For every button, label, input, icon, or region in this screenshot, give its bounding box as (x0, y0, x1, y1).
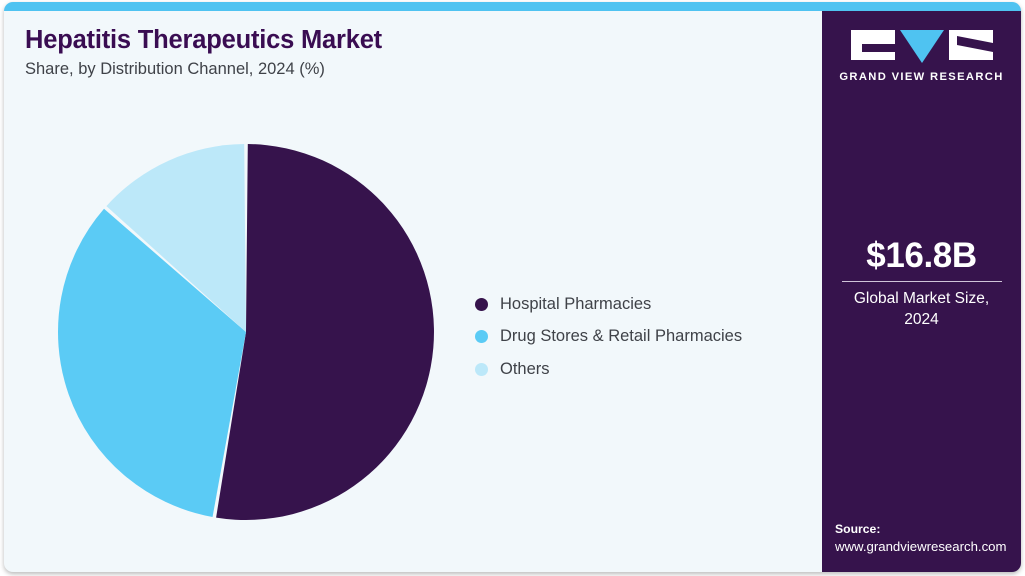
pie-slice[interactable] (216, 144, 434, 520)
kpi-divider (842, 281, 1002, 282)
kpi-caption: Global Market Size, 2024 (836, 289, 1007, 330)
branding-sidebar: GRAND VIEW RESEARCH $16.8B Global Market… (822, 11, 1021, 572)
logo-letter-v-triangle-icon (900, 30, 944, 63)
legend-swatch-icon (475, 298, 488, 311)
pie-slice-group (58, 144, 434, 520)
chart-legend: Hospital Pharmacies Drug Stores & Retail… (475, 288, 742, 386)
legend-item-drug-stores-retail-pharmacies[interactable]: Drug Stores & Retail Pharmacies (475, 321, 742, 354)
kpi-value: $16.8B (836, 236, 1007, 275)
legend-item-label: Drug Stores & Retail Pharmacies (500, 327, 742, 346)
legend-swatch-icon (475, 330, 488, 343)
logo-letter-g-icon (851, 30, 895, 60)
legend-item-others[interactable]: Others (475, 353, 742, 386)
legend-item-label: Others (500, 360, 550, 379)
legend-item-hospital-pharmacies[interactable]: Hospital Pharmacies (475, 288, 742, 321)
legend-item-label: Hospital Pharmacies (500, 295, 651, 314)
infographic-card: Hepatitis Therapeutics Market Share, by … (4, 2, 1021, 572)
source-label: Source: (835, 521, 1021, 538)
source-note: Source: www.grandviewresearch.com (835, 521, 1021, 556)
legend-swatch-icon (475, 363, 488, 376)
top-accent-strip (4, 2, 1021, 11)
kpi-market-size: $16.8B Global Market Size, 2024 (836, 236, 1007, 330)
logo: GRAND VIEW RESEARCH (822, 30, 1021, 83)
pie-chart-svg (54, 140, 438, 524)
source-url[interactable]: www.grandviewresearch.com (835, 538, 1021, 556)
page-title: Hepatitis Therapeutics Market (25, 26, 785, 55)
pie-chart (54, 140, 438, 524)
chart-header: Hepatitis Therapeutics Market Share, by … (25, 26, 785, 80)
logo-letter-r-icon (949, 30, 993, 60)
chart-subtitle: Share, by Distribution Channel, 2024 (%) (25, 60, 785, 80)
logo-wordmark: GRAND VIEW RESEARCH (822, 71, 1021, 83)
logo-marks (822, 30, 1021, 62)
